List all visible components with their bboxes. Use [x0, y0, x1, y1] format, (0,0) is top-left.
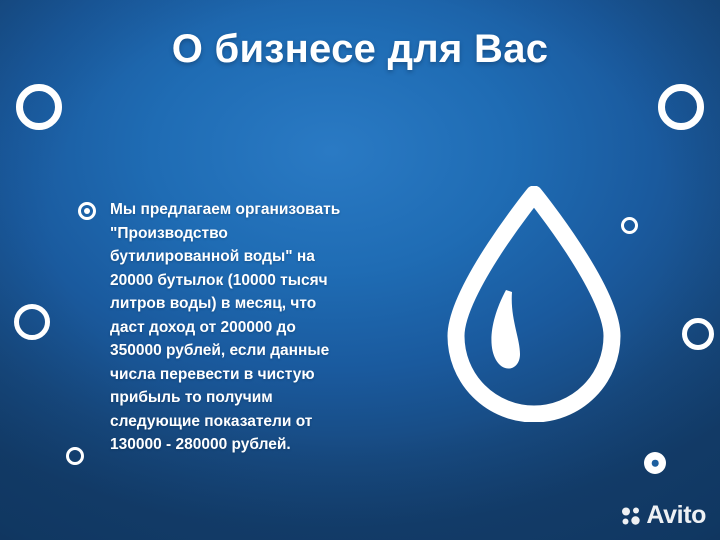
- deco-donut-bottom-right-icon: [644, 452, 666, 474]
- bullet-ring-dot-icon: [78, 202, 96, 220]
- deco-ring-mid-left-icon: [14, 304, 50, 340]
- avito-dots-icon: [620, 505, 642, 527]
- bullet-item-text: Мы предлагаем организовать "Производство…: [110, 198, 340, 457]
- page-title: О бизнесе для Вас: [0, 27, 720, 72]
- deco-ring-mid-right-icon: [682, 318, 714, 350]
- avito-wordmark: Avito: [646, 503, 706, 528]
- avito-watermark: Avito: [620, 503, 706, 528]
- bullet-list-item: Мы предлагаем организовать "Производство…: [78, 198, 408, 457]
- water-droplet-icon: [444, 186, 624, 422]
- deco-ring-top-right-icon: [658, 84, 704, 130]
- presentation-slide: О бизнесе для Вас Мы предлагаем организо…: [0, 0, 720, 540]
- deco-ring-top-left-icon: [16, 84, 62, 130]
